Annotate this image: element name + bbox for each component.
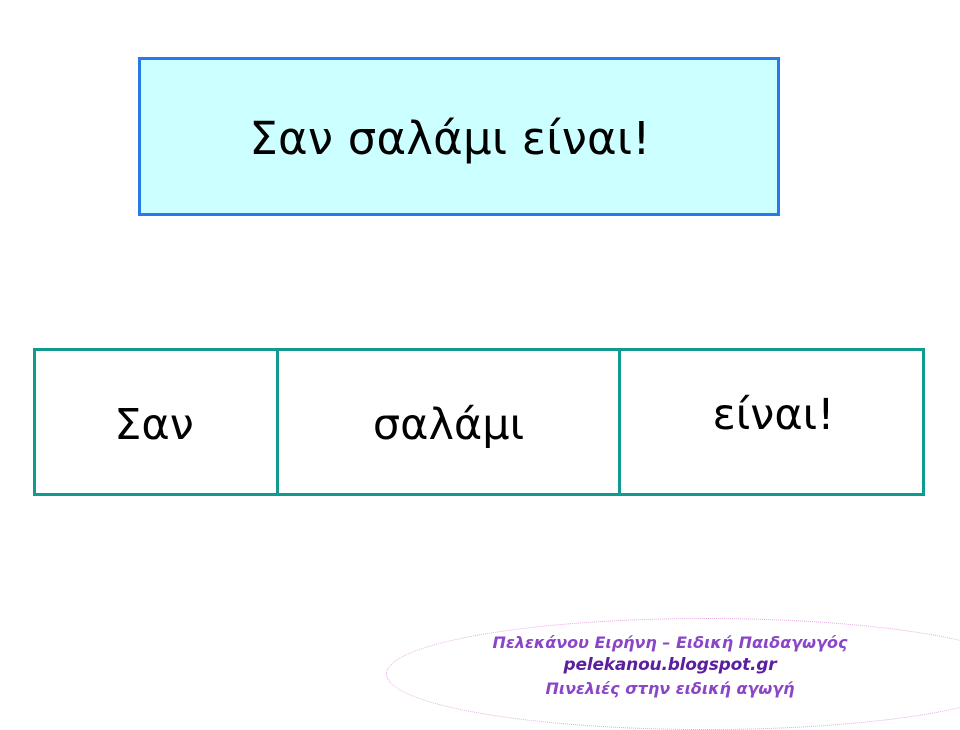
- word-table: Σαν σαλάμι είναι!: [33, 348, 925, 496]
- credit-text-group: Πελεκάνου Ειρήνη – Ειδική Παιδαγωγός pel…: [386, 632, 954, 700]
- word-label-3: είναι!: [713, 394, 835, 437]
- credit-tagline: Πινελιές στην ειδική αγωγή: [386, 677, 954, 700]
- credit-blog-url[interactable]: pelekanou.blogspot.gr: [386, 654, 954, 677]
- word-label-2: σαλάμι: [373, 404, 524, 447]
- credit-block: Πελεκάνου Ειρήνη – Ειδική Παιδαγωγός pel…: [386, 618, 960, 730]
- word-cell-1[interactable]: Σαν: [36, 351, 276, 493]
- word-cell-2[interactable]: σαλάμι: [276, 351, 618, 493]
- credit-author-line: Πελεκάνου Ειρήνη – Ειδική Παιδαγωγός: [386, 632, 954, 654]
- sentence-text: Σαν σαλάμι είναι!: [249, 116, 650, 161]
- sentence-banner: Σαν σαλάμι είναι!: [138, 57, 780, 216]
- word-label-1: Σαν: [114, 404, 194, 447]
- word-cell-3[interactable]: είναι!: [618, 351, 922, 493]
- slide-canvas: Σαν σαλάμι είναι! Σαν σαλάμι είναι! Πελε…: [0, 0, 960, 720]
